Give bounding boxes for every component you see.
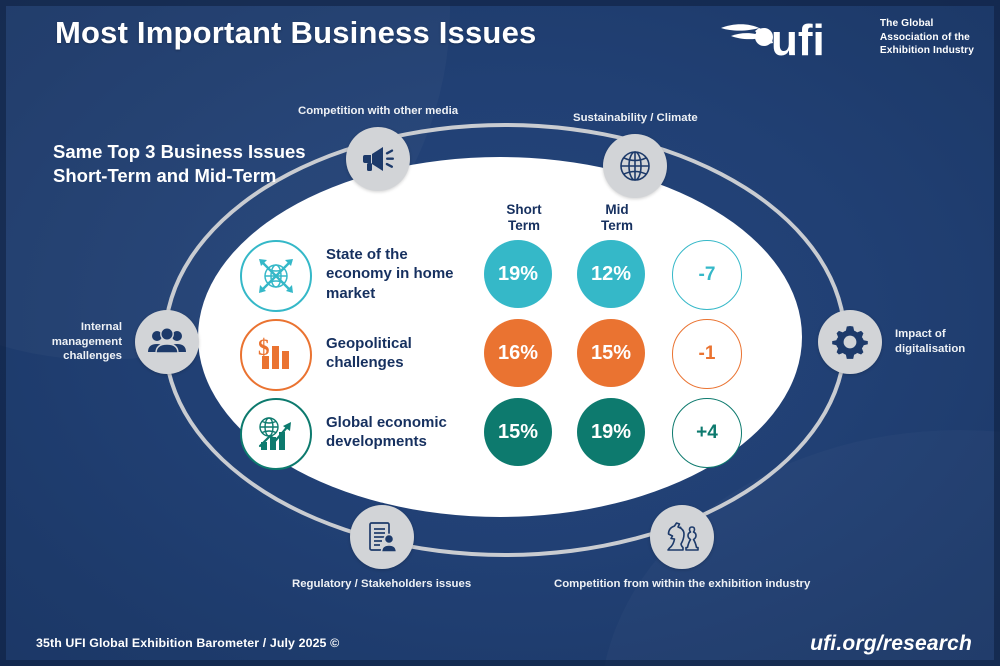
- satellite-label: Competition from within the exhibition i…: [554, 577, 810, 592]
- issue-row: Global economic developments 15% 19% +4: [240, 398, 770, 477]
- people-group-icon: [135, 310, 199, 374]
- column-header-short-term: Short Term: [484, 202, 564, 234]
- short-term-value: 16%: [484, 319, 552, 387]
- satellite-competition-within-industry: Competition from within the exhibition i…: [554, 505, 810, 592]
- satellite-regulatory-stakeholders: Regulatory / Stakeholders issues: [292, 505, 471, 592]
- chess-pieces-icon: [650, 505, 714, 569]
- globe-growth-chart-icon: [240, 398, 312, 470]
- dollar-bar-chart-icon: $: [240, 319, 312, 391]
- satellite-internal-management: Internal management challenges: [24, 310, 199, 374]
- megaphone-icon: [346, 127, 410, 191]
- ufi-wordmark-icon: ufi: [719, 12, 871, 66]
- ufi-tagline-line-2: Association of the: [880, 31, 974, 45]
- satellite-label: Competition with other media: [298, 104, 458, 119]
- satellite-label: Impact of digitalisation: [895, 327, 993, 356]
- delta-value: +4: [672, 398, 742, 468]
- satellite-label: Internal management challenges: [24, 320, 122, 364]
- ufi-logo: ufi The Global Association of the Exhibi…: [719, 12, 974, 66]
- short-term-value: 19%: [484, 240, 552, 308]
- ufi-tagline: The Global Association of the Exhibition…: [880, 17, 974, 58]
- gear-icon: [818, 310, 882, 374]
- column-headers: Short Term Mid Term: [240, 200, 770, 240]
- satellite-label: Sustainability / Climate: [573, 111, 698, 126]
- svg-text:ufi: ufi: [771, 16, 825, 65]
- mid-term-value: 19%: [577, 398, 645, 466]
- issues-grid: Short Term Mid Term: [240, 200, 770, 477]
- page-subtitle: Same Top 3 Business Issues Short-Term an…: [53, 140, 323, 189]
- issue-row: $ Geopolitical challenges 16% 15% -1: [240, 319, 770, 398]
- issue-label: Geopolitical challenges: [326, 319, 471, 387]
- source-note: 35th UFI Global Exhibition Barometer / J…: [36, 636, 339, 650]
- infographic-canvas: Most Important Business Issues Same Top …: [0, 0, 1000, 666]
- globe-grid-icon: [603, 134, 667, 198]
- mid-term-value: 15%: [577, 319, 645, 387]
- issue-row: State of the economy in home market 19% …: [240, 240, 770, 319]
- mid-term-value: 12%: [577, 240, 645, 308]
- globe-crossed-arrows-icon: [240, 240, 312, 312]
- ufi-tagline-line-1: The Global: [880, 17, 974, 31]
- issue-label: State of the economy in home market: [326, 240, 471, 308]
- issue-label: Global economic developments: [326, 398, 471, 466]
- short-term-value: 15%: [484, 398, 552, 466]
- satellite-label: Regulatory / Stakeholders issues: [292, 577, 471, 592]
- document-person-icon: [350, 505, 414, 569]
- delta-value: -1: [672, 319, 742, 389]
- ufi-tagline-line-3: Exhibition Industry: [880, 44, 974, 58]
- page-title: Most Important Business Issues: [55, 15, 536, 51]
- satellite-impact-digitalisation: Impact of digitalisation: [818, 310, 993, 374]
- column-header-mid-term: Mid Term: [577, 202, 657, 234]
- website-link[interactable]: ufi.org/research: [810, 632, 972, 656]
- delta-value: -7: [672, 240, 742, 310]
- satellite-sustainability-climate: Sustainability / Climate: [573, 111, 698, 198]
